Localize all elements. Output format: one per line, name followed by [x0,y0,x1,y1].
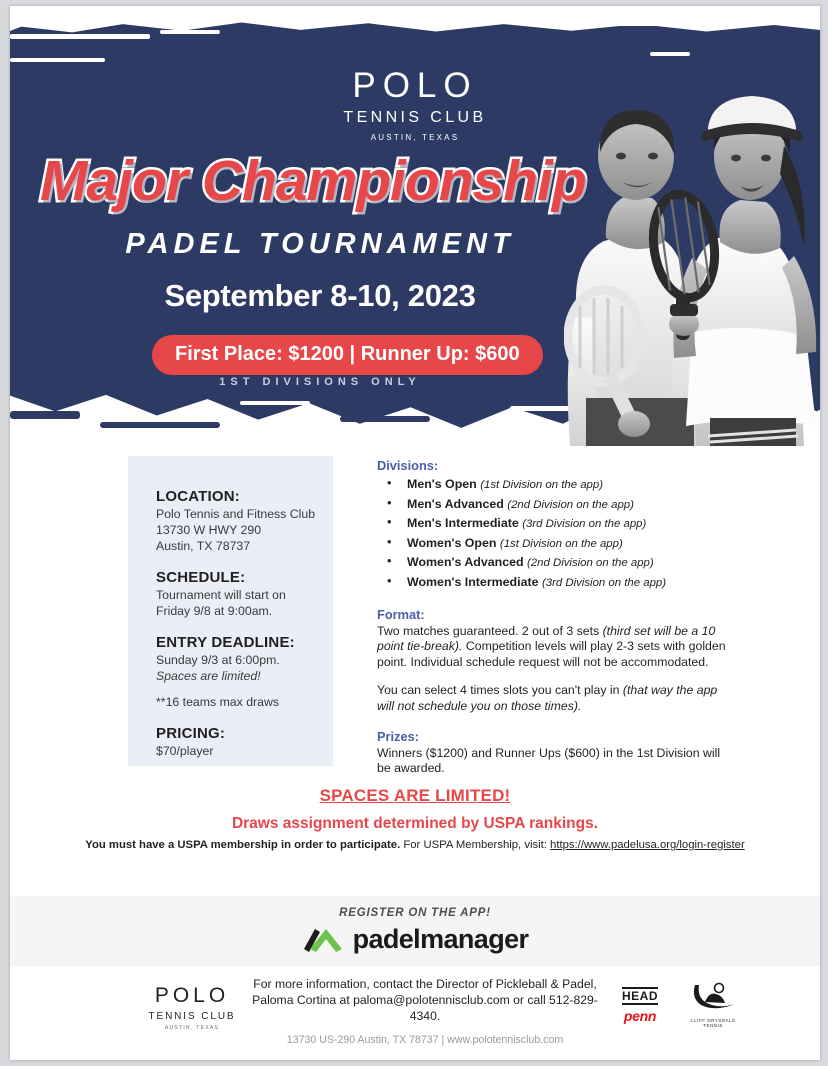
list-item: Women's Advanced (2nd Division on the ap… [381,553,732,573]
footer-logo-austin-texas: AUSTIN, TEXAS [132,1025,252,1031]
schedule-line-1: Tournament will start on [156,587,333,603]
list-item: Men's Advanced (2nd Division on the app) [381,495,732,515]
padelmanager-logo[interactable]: padelmanager [302,924,529,955]
location-line-2: 13730 W HWY 290 [156,522,333,538]
draws-assignment-note: Draws assignment determined by USPA rank… [10,815,820,833]
footer-address-line: 13730 US-290 Austin, TX 78737 | www.polo… [240,1034,610,1046]
division-name: Men's Open [407,477,477,491]
format-p1-part-a: Two matches guaranteed. 2 out of 3 sets [377,624,603,638]
division-note: (1st Division on the app) [500,538,623,550]
hero-banner: POLO TENNIS CLUB AUSTIN, TEXAS Major Cha… [10,6,820,446]
divisions-list: Men's Open (1st Division on the app) Men… [381,475,732,593]
division-name: Women's Open [407,536,496,550]
cliff-drysdale-swoosh-icon [685,982,741,1012]
footer-contact-block: For more information, contact the Direct… [240,976,610,1046]
division-note: (3rd Division on the app) [522,518,646,530]
penn-wordmark: penn [622,1008,658,1024]
division-note: (3rd Division on the app) [542,577,666,589]
spaces-limited-title: SPACES ARE LIMITED! [10,786,820,806]
pricing-line: $70/player [156,743,333,759]
format-paragraph-2: You can select 4 times slots you can't p… [377,683,732,714]
schedule-heading: SCHEDULE: [156,569,333,586]
details-right-column: Divisions: Men's Open (1st Division on t… [377,458,732,777]
list-item: Women's Open (1st Division on the app) [381,534,732,554]
list-item: Women's Intermediate (3rd Division on th… [381,573,732,593]
event-headline: Major Championship [40,148,586,214]
list-item: Men's Open (1st Division on the app) [381,475,732,495]
membership-rest-text: For USPA Membership, visit: [400,839,550,851]
deadline-italic-note: Spaces are limited! [156,668,333,684]
deadline-max-draws-note: **16 teams max draws [156,694,333,710]
head-penn-logo: HEAD penn [622,987,658,1024]
uspa-membership-link[interactable]: https://www.padelusa.org/login-register [550,839,745,851]
format-p2-part-a: You can select 4 times slots you can't p… [377,683,623,697]
padelmanager-chevron-icon [302,926,344,954]
membership-bold-text: You must have a USPA membership in order… [85,839,400,851]
pricing-heading: PRICING: [156,725,333,742]
schedule-line-2: Friday 9/8 at 9:00am. [156,603,333,619]
footer-logo-polo: POLO [132,984,252,1008]
register-on-app-label: REGISTER ON THE APP! [339,907,491,919]
division-name: Women's Advanced [407,555,524,569]
logo-line-austin-texas: AUSTIN, TEXAS [10,133,820,142]
logo-line-polo: POLO [10,68,820,103]
divisions-only-note: 1ST DIVISIONS ONLY [10,376,630,388]
flyer-page: POLO TENNIS CLUB AUSTIN, TEXAS Major Cha… [10,6,820,1060]
division-name: Women's Intermediate [407,575,538,589]
register-app-strip: REGISTER ON THE APP! padelmanager [10,896,820,966]
location-line-1: Polo Tennis and Fitness Club [156,506,333,522]
event-dateline: September 8-10, 2023 [10,278,630,314]
membership-requirement-line: You must have a USPA membership in order… [10,839,820,851]
spaces-limited-callout: SPACES ARE LIMITED! Draws assignment det… [10,786,820,833]
divisions-heading: Divisions: [377,458,732,473]
footer-logo-tennis-club: TENNIS CLUB [132,1011,252,1022]
footer-polo-logo: POLO TENNIS CLUB AUSTIN, TEXAS [132,984,252,1031]
details-info-box: LOCATION: Polo Tennis and Fitness Club 1… [128,456,333,766]
format-heading: Format: [377,607,732,622]
division-name: Men's Intermediate [407,516,519,530]
division-name: Men's Advanced [407,497,504,511]
location-heading: LOCATION: [156,488,333,505]
location-line-3: Austin, TX 78737 [156,538,333,554]
deadline-line: Sunday 9/3 at 6:00pm. [156,652,333,668]
sponsor-logos: HEAD penn CLIFF DRYSDALE TENNIS [622,982,746,1028]
flyer-footer: POLO TENNIS CLUB AUSTIN, TEXAS For more … [10,968,820,1060]
contact-line-1: For more information, contact the Direct… [240,976,610,992]
contact-line-2: Paloma Cortina at paloma@polotennisclub.… [240,992,610,1024]
format-paragraph-1: Two matches guaranteed. 2 out of 3 sets … [377,624,732,671]
entry-deadline-heading: ENTRY DEADLINE: [156,634,333,651]
cliff-drysdale-logo: CLIFF DRYSDALE TENNIS [680,982,746,1028]
padelmanager-wordmark: padelmanager [353,924,529,955]
cliff-drysdale-caption: CLIFF DRYSDALE TENNIS [680,1018,746,1028]
polo-tennis-club-logo: POLO TENNIS CLUB AUSTIN, TEXAS [10,68,820,142]
division-note: (2nd Division on the app) [507,499,634,511]
division-note: (1st Division on the app) [480,479,603,491]
division-note: (2nd Division on the app) [527,557,654,569]
prizes-text: Winners ($1200) and Runner Ups ($600) in… [377,746,732,777]
prizes-heading: Prizes: [377,729,732,744]
event-subheadline: PADEL TOURNAMENT [10,228,630,261]
list-item: Men's Intermediate (3rd Division on the … [381,514,732,534]
prize-badge: First Place: $1200 | Runner Up: $600 [152,335,543,375]
logo-line-tennis-club: TENNIS CLUB [10,109,820,127]
head-wordmark: HEAD [622,987,658,1005]
